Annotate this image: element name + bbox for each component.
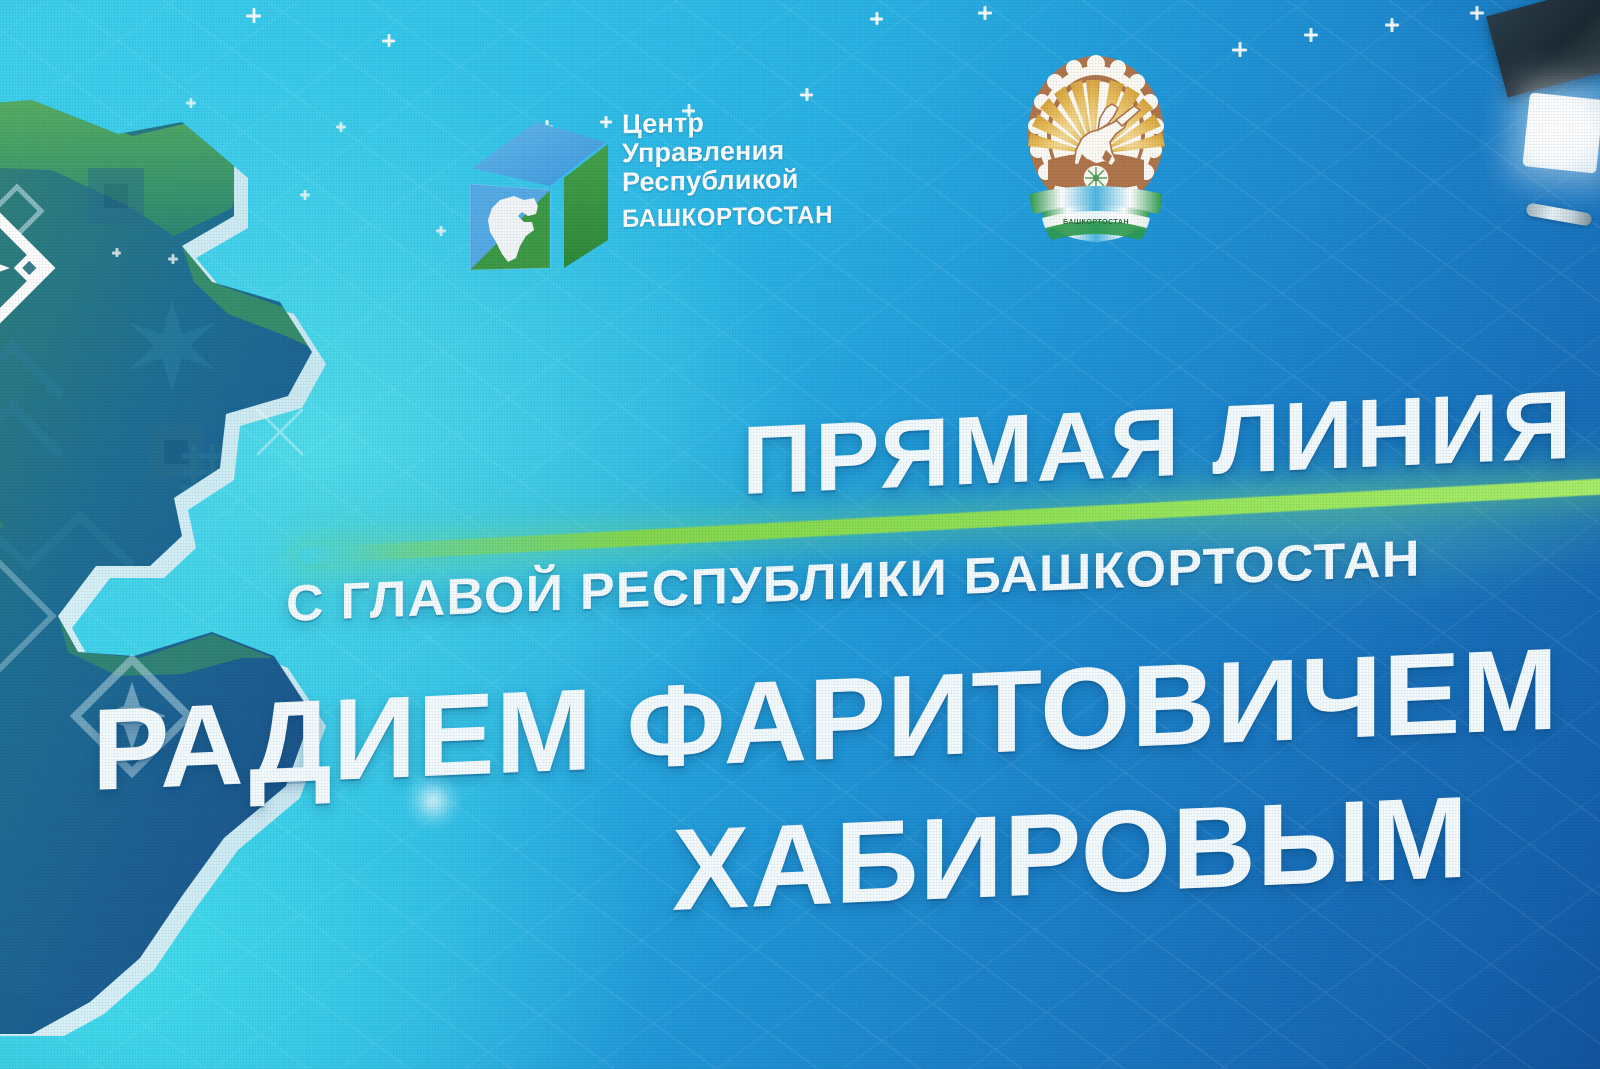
green-accent-glow [695, 421, 1600, 660]
overhead-truss-fragment [1486, 0, 1600, 98]
republic-map-ornament [0, 96, 352, 1036]
light-bar [1525, 202, 1592, 226]
sparkle-icon [186, 98, 196, 108]
sparkle-icon [112, 248, 121, 257]
headline-line-4: ХАБИРОВЫМ [672, 779, 1469, 928]
screen-light-flare [404, 772, 462, 830]
tricolor-ribbon: БАШКОРТОСТАН [1030, 186, 1162, 242]
sparkle-icon [246, 8, 261, 23]
x-mark-decoration [248, 400, 312, 464]
studio-light-panel [1522, 92, 1600, 173]
sparkle-icon [300, 190, 310, 200]
sparkle-icon [168, 254, 178, 264]
sparkle-icon [436, 226, 446, 236]
sparkle-icon [800, 88, 813, 101]
cur-bashkortostan-logo: Центр Управления Республикой БАШКОРТОСТА… [462, 108, 862, 288]
cur-logo-line-2: Управления [622, 135, 862, 169]
sparkle-icon [978, 6, 992, 20]
sparkle-icon [336, 122, 346, 132]
stage-backdrop: Центр Управления Республикой БАШКОРТОСТА… [0, 0, 1600, 1069]
cube-with-republic-map-icon [462, 112, 612, 277]
sparkle-icon [1385, 18, 1399, 32]
coat-ribbon-text: БАШКОРТОСТАН [1063, 217, 1129, 226]
sparkle-icon [1232, 42, 1247, 57]
cur-logo-region: БАШКОРТОСТАН [622, 202, 852, 233]
cur-logo-line-1: Центр [622, 106, 862, 140]
headline-line-3: РАДИЕМ ФАРИТОВИЧЕМ [92, 631, 1559, 808]
sparkle-icon [382, 34, 395, 47]
cur-logo-line-3: Республикой [622, 164, 862, 198]
coat-of-arms-bashkortostan: БАШКОРТОСТАН [1012, 42, 1180, 247]
sparkle-icon [1470, 6, 1484, 20]
green-diagonal-accent [300, 478, 1600, 564]
bashkir-diamond-motif-secondary [75, 659, 188, 772]
sparkle-icon [870, 12, 883, 25]
bashkir-diamond-star-motif [0, 180, 48, 355]
cur-logo-text: Центр Управления Республикой БАШКОРТОСТА… [622, 108, 862, 233]
sparkle-icon [1304, 28, 1318, 42]
